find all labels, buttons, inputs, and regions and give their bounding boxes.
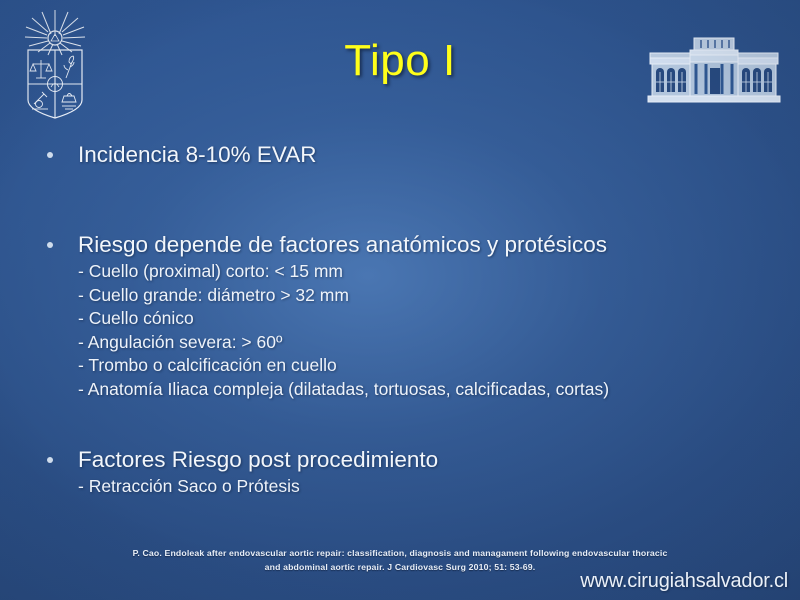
bullet-item: Riesgo depende de factores anatómicos y …	[0, 230, 800, 260]
sub-bullet-item: - Retracción Saco o Prótesis	[0, 475, 800, 499]
sub-bullet-item: - Cuello grande: diámetro > 32 mm	[0, 284, 800, 308]
bullet-label: Incidencia 8-10% EVAR	[78, 142, 316, 167]
slide-body: Incidencia 8-10% EVAR Riesgo depende de …	[0, 140, 800, 499]
bullet-block-1: Incidencia 8-10% EVAR	[0, 140, 800, 170]
spacer	[0, 401, 800, 445]
bullet-label: Riesgo depende de factores anatómicos y …	[78, 232, 607, 257]
spacer	[0, 170, 800, 230]
bullet-label: Factores Riesgo post procedimiento	[78, 447, 438, 472]
page-title: Tipo I	[0, 36, 800, 86]
bullet-item: Factores Riesgo post procedimiento	[0, 445, 800, 475]
sub-bullet-item: - Trombo o calcificación en cuello	[0, 354, 800, 378]
bullet-dot-icon	[47, 152, 53, 158]
bullet-dot-icon	[47, 457, 53, 463]
sub-bullet-item: - Angulación severa: > 60º	[0, 331, 800, 355]
website-url[interactable]: www.cirugiahsalvador.cl	[580, 570, 788, 593]
bullet-dot-icon	[47, 242, 53, 248]
bullet-block-3: Factores Riesgo post procedimiento - Ret…	[0, 445, 800, 499]
sub-bullet-item: - Cuello cónico	[0, 307, 800, 331]
bullet-block-2: Riesgo depende de factores anatómicos y …	[0, 230, 800, 401]
sub-bullet-item: - Cuello (proximal) corto: < 15 mm	[0, 260, 800, 284]
presentation-slide: Tipo I Incidencia 8-10% EVAR Riesgo depe…	[0, 0, 800, 600]
bullet-item: Incidencia 8-10% EVAR	[0, 140, 800, 170]
sub-bullet-item: - Anatomía Iliaca compleja (dilatadas, t…	[0, 378, 800, 402]
citation-line-1: P. Cao. Endoleak after endovascular aort…	[0, 546, 800, 560]
